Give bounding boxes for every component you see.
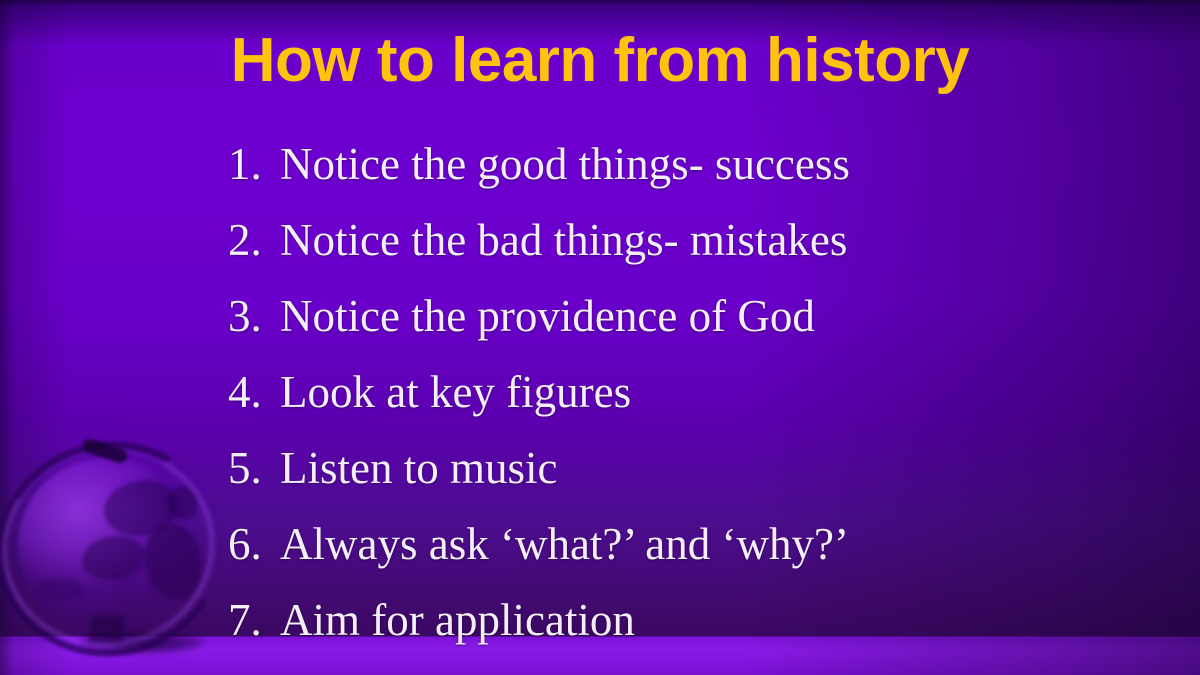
list-item-text: Always ask ‘what?’ and ‘why?’ (280, 519, 849, 569)
list-item: 5.Listen to music (228, 430, 1128, 506)
list-item-number: 6. (228, 506, 280, 582)
presentation-slide: How to learn from history 1.Notice the g… (0, 0, 1200, 675)
globe-landmass (82, 536, 144, 580)
list-item-text: Listen to music (280, 443, 557, 493)
globe-landmass (104, 480, 178, 536)
list-item: 7.Aim for application (228, 582, 1128, 658)
list-item-text: Aim for application (280, 595, 635, 645)
globe-stand-base (88, 616, 126, 642)
list-item-number: 4. (228, 354, 280, 430)
list-item: 3.Notice the providence of God (228, 278, 1128, 354)
globe-landmass (38, 578, 84, 600)
list-item-text: Look at key figures (280, 367, 631, 417)
list-item: 4.Look at key figures (228, 354, 1128, 430)
globe-icon (0, 428, 236, 658)
list-item-text: Notice the providence of God (280, 291, 815, 341)
globe-ring (0, 418, 246, 675)
list-item-number: 7. (228, 582, 280, 658)
globe-landmass (168, 486, 198, 520)
list-item-text: Notice the bad things- mistakes (280, 215, 847, 265)
list-item: 2.Notice the bad things- mistakes (228, 202, 1128, 278)
globe-ring-highlight (0, 425, 235, 668)
list-item-text: Notice the good things- success (280, 139, 850, 189)
list-item-number: 5. (228, 430, 280, 506)
globe-shadow (78, 632, 204, 654)
list-item-number: 3. (228, 278, 280, 354)
globe-mount-pin (81, 437, 129, 465)
slide-title: How to learn from history (0, 24, 1200, 98)
globe-sphere (18, 458, 196, 630)
numbered-list: 1.Notice the good things- success 2.Noti… (228, 126, 1128, 658)
list-item-number: 1. (228, 126, 280, 202)
list-item: 6.Always ask ‘what?’ and ‘why?’ (228, 506, 1128, 582)
list-item: 1.Notice the good things- success (228, 126, 1128, 202)
list-item-number: 2. (228, 202, 280, 278)
globe-landmass (144, 524, 202, 600)
